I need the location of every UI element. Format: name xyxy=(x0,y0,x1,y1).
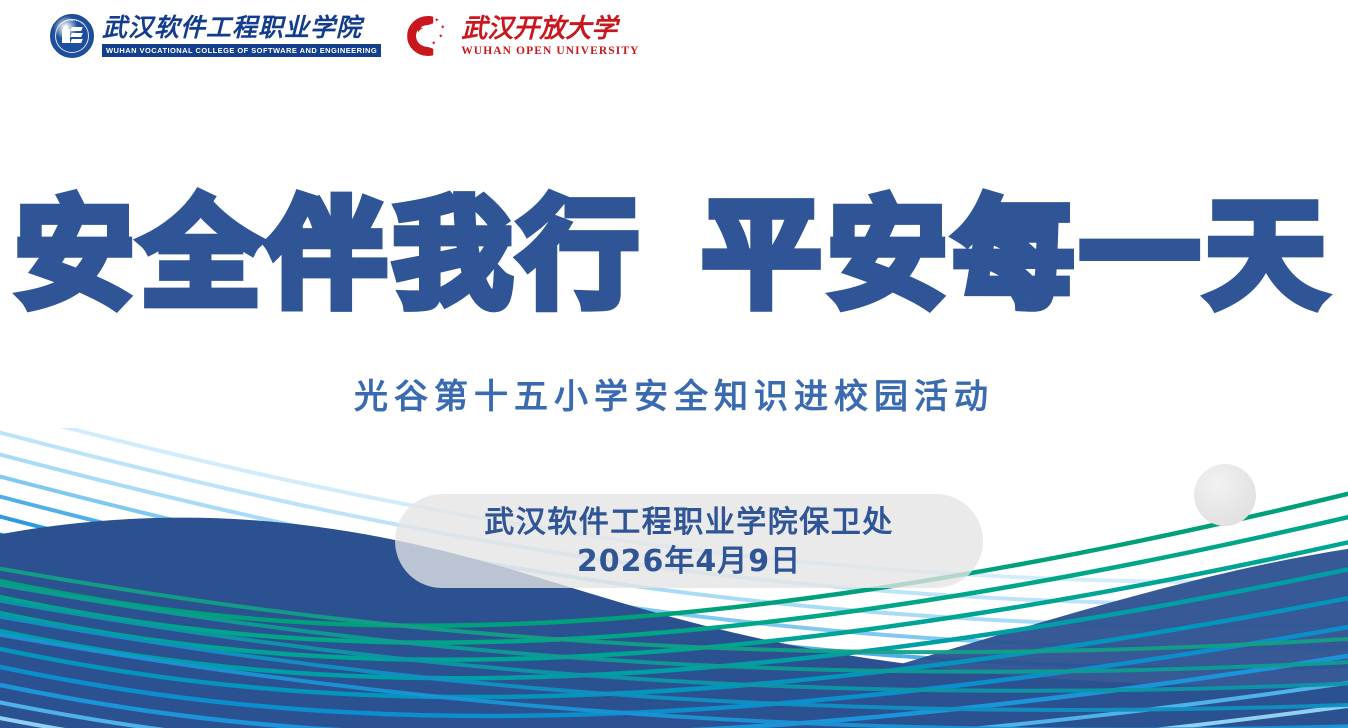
headline: 安全伴我行 平安每一天 xyxy=(0,196,1348,314)
crescent-stars-icon: ✦ ✦ ✦ ✦ ✦ xyxy=(407,14,453,58)
logo-text-block: 武汉软件工程职业学院 WUHAN VOCATIONAL COLLEGE OF S… xyxy=(102,15,381,58)
poster-canvas: 武汉软件工程职业学院 WUHAN VOCATIONAL COLLEGE OF S… xyxy=(0,0,1348,728)
page-subtitle: 光谷第十五小学安全知识进校园活动 xyxy=(0,369,1348,418)
logo-wuhan-vocational-college: 武汉软件工程职业学院 WUHAN VOCATIONAL COLLEGE OF S… xyxy=(50,14,381,58)
logo-en-name: WUHAN VOCATIONAL COLLEGE OF SOFTWARE AND… xyxy=(102,44,381,57)
star-icon-3: ✦ xyxy=(440,25,445,31)
decorative-circle xyxy=(1194,464,1256,526)
seal-book-glyph xyxy=(62,27,82,45)
logo-bar: 武汉软件工程职业学院 WUHAN VOCATIONAL COLLEGE OF S… xyxy=(50,14,640,58)
star-icon-1: ✦ xyxy=(413,22,424,35)
star-icon-4: ✦ xyxy=(438,34,443,40)
circular-seal-book-icon xyxy=(50,14,94,58)
logo-wuhan-open-university: ✦ ✦ ✦ ✦ ✦ 武汉开放大学 WUHAN OPEN UNIVERSITY xyxy=(407,14,639,58)
footer-organization: 武汉软件工程职业学院保卫处 xyxy=(395,503,983,543)
headline-part-1: 安全伴我行 xyxy=(16,196,646,314)
logo-cn-name: 武汉开放大学 xyxy=(461,15,639,44)
headline-part-2: 平安每一天 xyxy=(702,196,1332,314)
footer-text-block: 武汉软件工程职业学院保卫处 2026年4月9日 xyxy=(395,503,983,581)
logo-text-block: 武汉开放大学 WUHAN OPEN UNIVERSITY xyxy=(461,15,639,58)
logo-en-name: WUHAN OPEN UNIVERSITY xyxy=(461,45,639,57)
footer-date: 2026年4月9日 xyxy=(395,543,983,581)
star-icon-5: ✦ xyxy=(431,41,436,47)
logo-cn-name: 武汉软件工程职业学院 xyxy=(102,15,381,43)
star-icon-2: ✦ xyxy=(434,18,439,24)
